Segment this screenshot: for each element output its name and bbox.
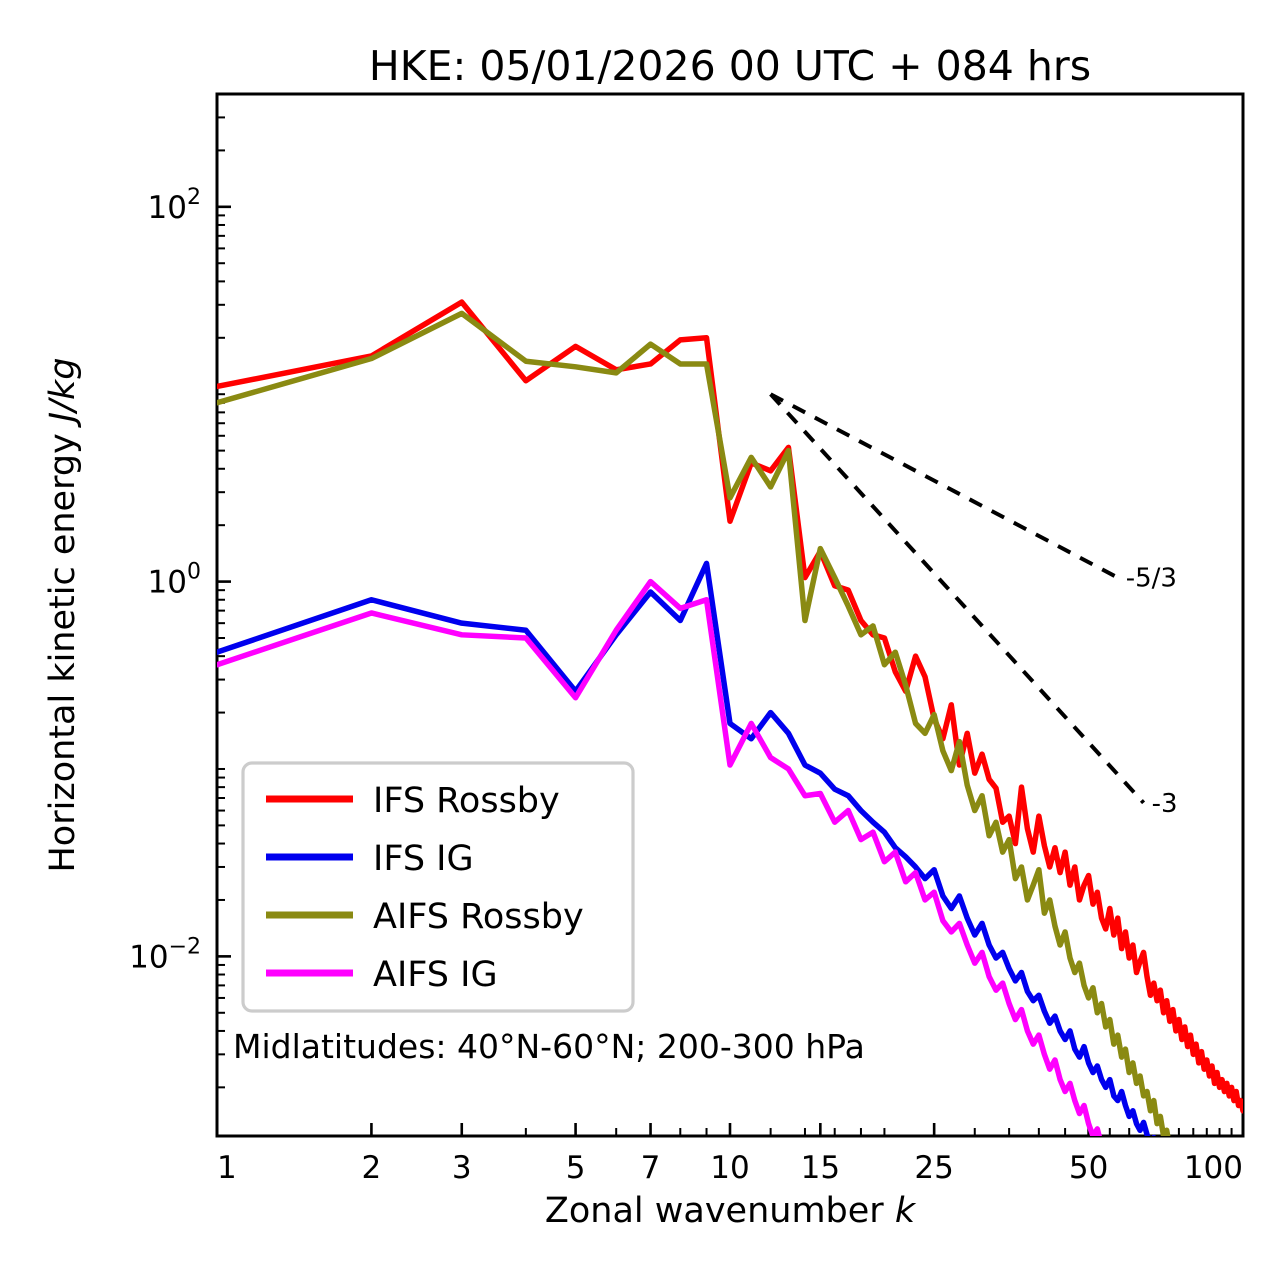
page-title: HKE: 05/01/2026 00 UTC + 084 hrs bbox=[369, 42, 1091, 90]
legend-label-ifs-rossby[interactable]: IFS Rossby bbox=[373, 781, 560, 821]
x-tick-label: 100 bbox=[1184, 1150, 1243, 1186]
x-tick-label: 10 bbox=[710, 1150, 749, 1186]
legend-label-ifs-ig[interactable]: IFS IG bbox=[373, 839, 474, 879]
legend-label-aifs-ig[interactable]: AIFS IG bbox=[373, 955, 498, 995]
reference-line-label: -3 bbox=[1152, 789, 1178, 819]
x-tick-label: 1 bbox=[217, 1150, 237, 1186]
y-axis-label: Horizontal kinetic energy J/kg bbox=[43, 357, 83, 872]
region-annotation-text: Midlatitudes: 40°N-60°N; 200-300 hPa bbox=[233, 1027, 865, 1066]
x-tick-label: 50 bbox=[1069, 1150, 1108, 1186]
chart-title-group: HKE: 05/01/2026 00 UTC + 084 hrs bbox=[369, 42, 1091, 90]
x-tick-label: 3 bbox=[452, 1150, 472, 1186]
x-tick-label: 5 bbox=[566, 1150, 586, 1186]
chart-legend[interactable]: IFS RossbyIFS IGAIFS RossbyAIFS IG bbox=[243, 763, 633, 1011]
x-tick-label: 7 bbox=[641, 1150, 661, 1186]
legend-label-aifs-rossby[interactable]: AIFS Rossby bbox=[373, 897, 584, 937]
x-tick-label: 25 bbox=[914, 1150, 953, 1186]
hke-spectrum-chart: HKE: 05/01/2026 00 UTC + 084 hrs 1235710… bbox=[0, 0, 1280, 1288]
x-tick-label: 2 bbox=[362, 1150, 382, 1186]
region-annotation: Midlatitudes: 40°N-60°N; 200-300 hPa bbox=[233, 1027, 865, 1066]
reference-line-label: -5/3 bbox=[1126, 564, 1177, 594]
figure-canvas: HKE: 05/01/2026 00 UTC + 084 hrs 1235710… bbox=[0, 0, 1280, 1288]
x-tick-label: 15 bbox=[801, 1150, 840, 1186]
x-axis-label: Zonal wavenumber k bbox=[545, 1191, 917, 1231]
